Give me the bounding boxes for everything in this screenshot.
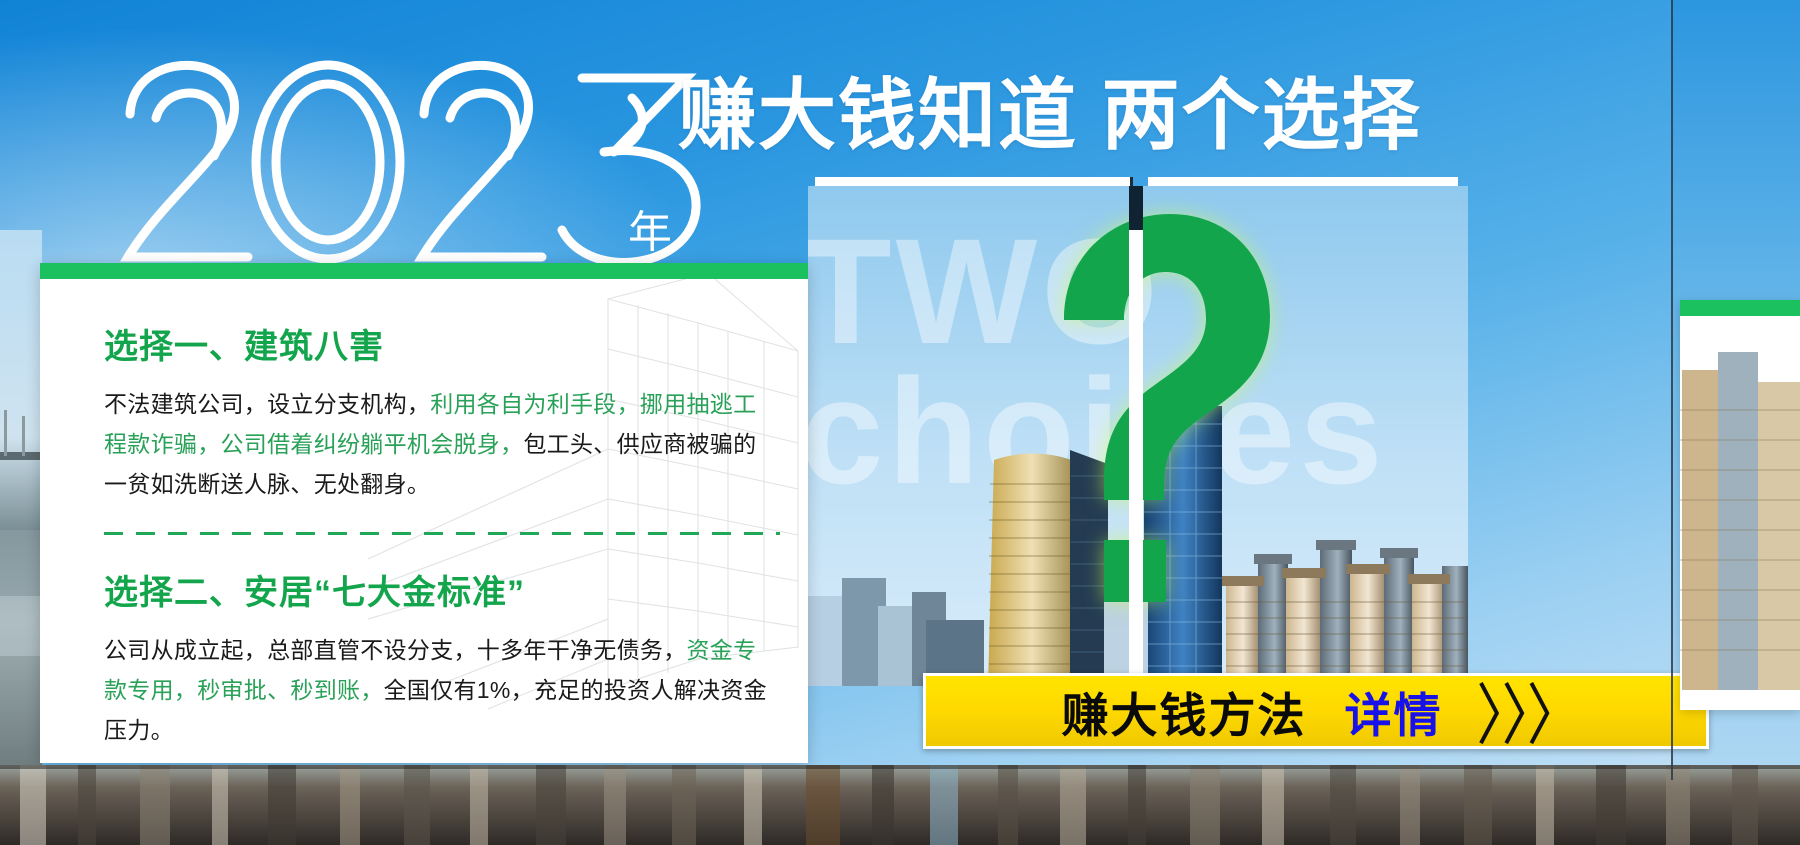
section-one-title: 选择一、建筑八害 <box>104 319 778 368</box>
composite-seam <box>1671 0 1673 780</box>
question-mark-icon <box>1012 200 1312 650</box>
poster-root: 年 赚大钱知道 两个选择 TWO choices <box>0 0 1800 845</box>
section-two: 选择二、安居“七大金标准” 公司从成立起，总部直管不设分支，十多年干净无债务，资… <box>104 565 778 750</box>
section-two-body: 公司从成立起，总部直管不设分支，十多年干净无债务，资金专款专用，秒审批、秒到账，… <box>104 631 776 750</box>
year-suffix-label: 年 <box>628 196 673 260</box>
section-one: 选择一、建筑八害 不法建筑公司，设立分支机构，利用各自为利手段，挪用抽逃工程款诈… <box>104 319 778 504</box>
headline-rule-left <box>815 177 1130 186</box>
right-side-card-accent <box>1680 300 1800 316</box>
content-card-body: 选择一、建筑八害 不法建筑公司，设立分支机构，利用各自为利手段，挪用抽逃工程款诈… <box>104 319 778 751</box>
headline-rule-right <box>1148 177 1458 186</box>
section-one-body: 不法建筑公司，设立分支机构，利用各自为利手段，挪用抽逃工程款诈骗，公司借着纠纷躺… <box>104 385 776 504</box>
chevron-right-icon: 〉〉〉 <box>1476 663 1579 759</box>
page-title: 赚大钱知道 两个选择 <box>678 76 1422 154</box>
bottom-photo-strip <box>0 765 1800 845</box>
content-card: 选择一、建筑八害 不法建筑公司，设立分支机构，利用各自为利手段，挪用抽逃工程款诈… <box>40 263 808 763</box>
cta-button[interactable]: 赚大钱方法 详情 〉〉〉 <box>923 673 1709 749</box>
section-two-title: 选择二、安居“七大金标准” <box>104 565 778 614</box>
section-divider <box>104 532 780 535</box>
section-one-text-1: 不法建筑公司，设立分支机构， <box>104 391 430 417</box>
question-mark-slit-top <box>1129 186 1143 230</box>
cta-link-label: 详情 <box>1345 677 1443 746</box>
question-mark-slit <box>1129 186 1143 682</box>
content-card-accent-bar <box>40 263 808 279</box>
cta-main-label: 赚大钱方法 <box>1062 677 1307 746</box>
right-buildings-photo <box>1680 330 1800 690</box>
left-waterfront-photo <box>0 230 42 775</box>
section-two-text-1: 公司从成立起，总部直管不设分支，十多年干净无债务， <box>104 637 687 663</box>
